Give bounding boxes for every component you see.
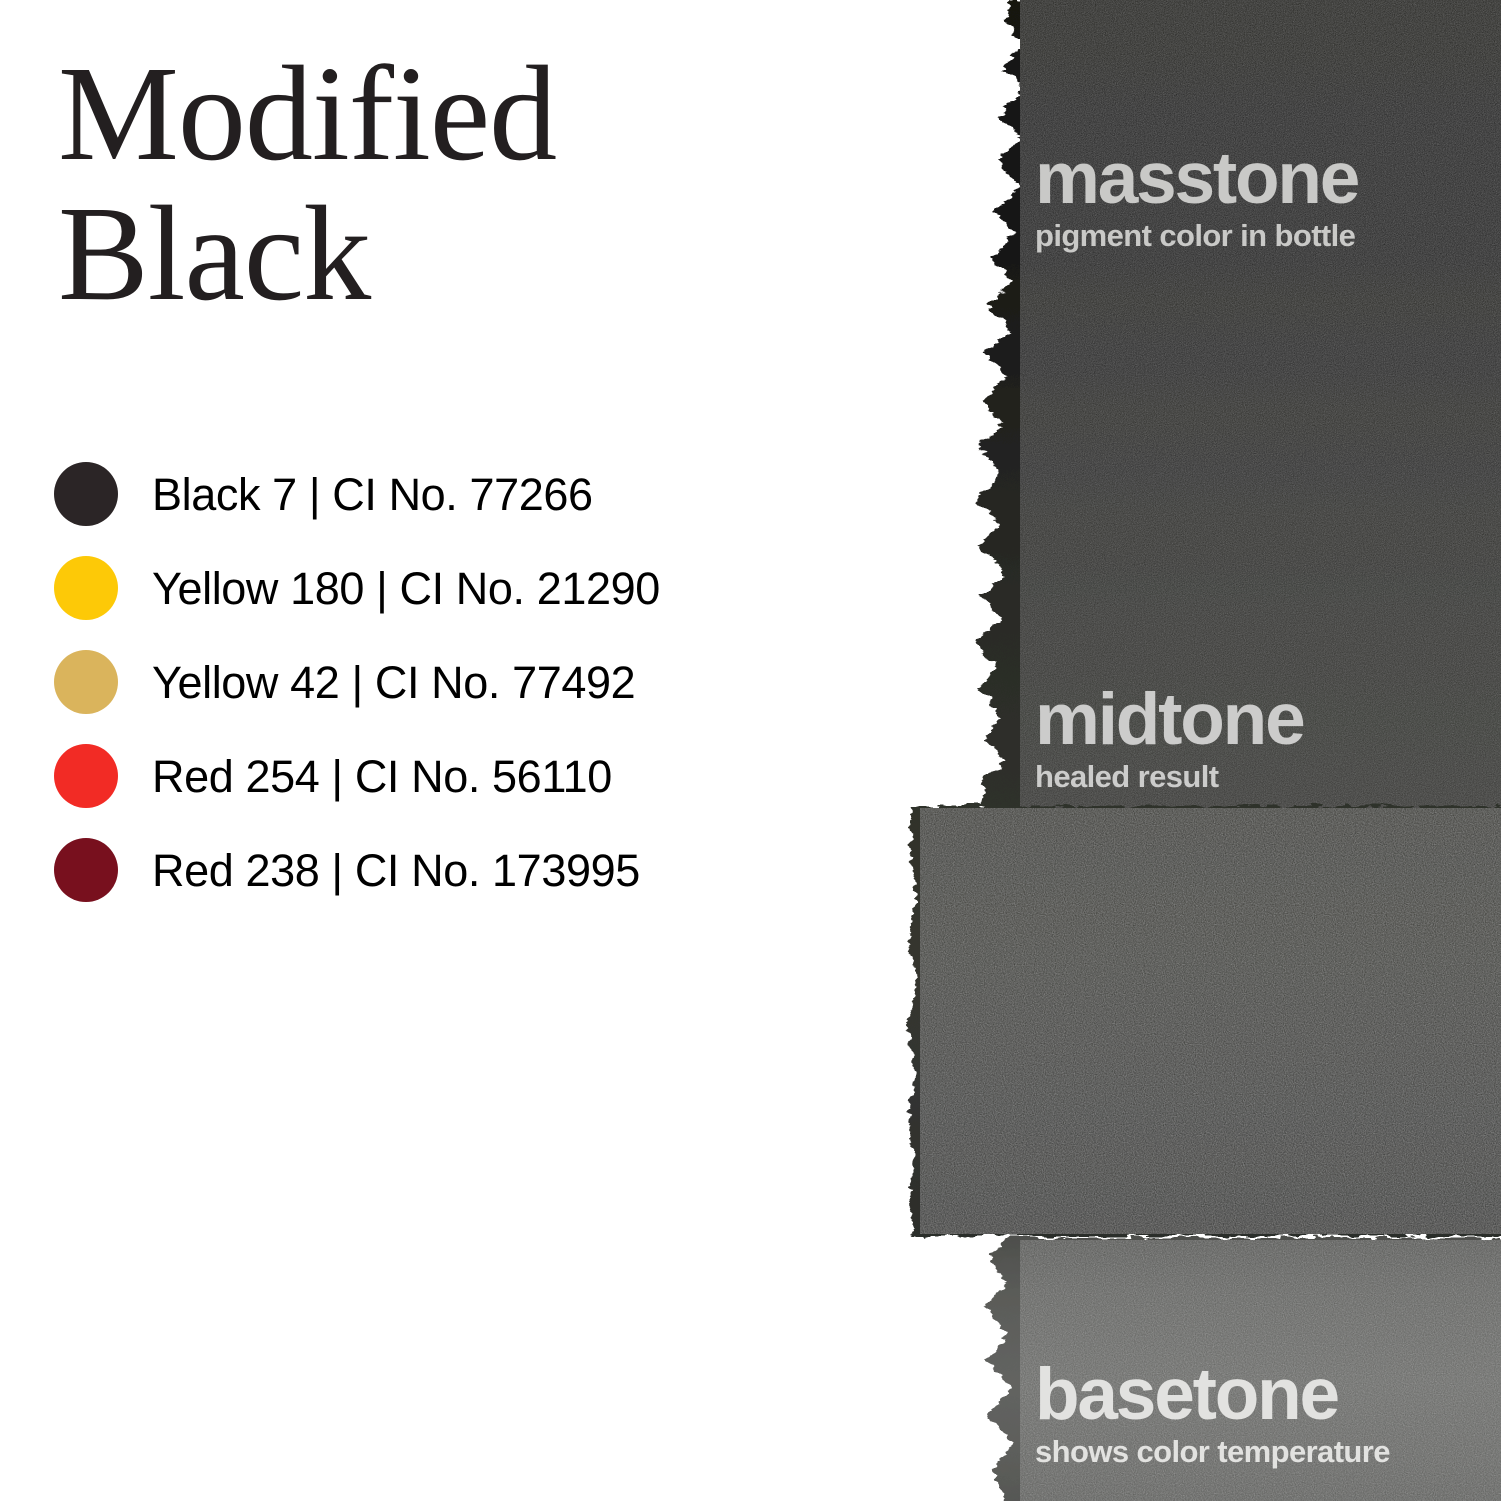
list-item: Yellow 180 | CI No. 21290 — [54, 541, 834, 635]
basetone-label-group: basetone shows color temperature — [1035, 1359, 1495, 1469]
info-panel: Modified Black Black 7 | CI No. 77266 Ye… — [0, 0, 900, 1501]
pigment-label: Yellow 42 | CI No. 77492 — [152, 660, 635, 705]
list-item: Red 254 | CI No. 56110 — [54, 729, 834, 823]
list-item: Red 238 | CI No. 173995 — [54, 823, 834, 917]
masstone-label-group: masstone pigment color in bottle — [1035, 143, 1495, 253]
masstone-title: masstone — [1035, 143, 1495, 215]
midtone-label-group: midtone healed result — [1035, 684, 1495, 794]
pigment-label: Red 254 | CI No. 56110 — [152, 754, 612, 799]
pigment-swatch-icon — [54, 838, 118, 902]
masstone-subtitle: pigment color in bottle — [1035, 219, 1495, 253]
basetone-subtitle: shows color temperature — [1035, 1435, 1495, 1469]
pigment-label: Yellow 180 | CI No. 21290 — [152, 566, 660, 611]
list-item: Yellow 42 | CI No. 77492 — [54, 635, 834, 729]
pigment-swatch-icon — [54, 650, 118, 714]
midtone-paint-shape — [907, 806, 1501, 1236]
basetone-title: basetone — [1035, 1359, 1495, 1431]
page-title-line-2: Black — [58, 184, 758, 324]
pigment-label: Red 238 | CI No. 173995 — [152, 848, 640, 893]
page-title: Modified Black — [58, 44, 758, 324]
midtone-subtitle: healed result — [1035, 760, 1495, 794]
pigment-swatch-icon — [54, 556, 118, 620]
paint-swatch-column: masstone pigment color in bottle midtone… — [860, 0, 1501, 1501]
page-title-line-1: Modified — [58, 44, 758, 184]
list-item: Black 7 | CI No. 77266 — [54, 447, 834, 541]
pigment-list: Black 7 | CI No. 77266 Yellow 180 | CI N… — [54, 447, 834, 917]
pigment-label: Black 7 | CI No. 77266 — [152, 472, 593, 517]
pigment-color-card: Modified Black Black 7 | CI No. 77266 Ye… — [0, 0, 1501, 1501]
pigment-swatch-icon — [54, 744, 118, 808]
pigment-swatch-icon — [54, 462, 118, 526]
midtone-title: midtone — [1035, 684, 1495, 756]
